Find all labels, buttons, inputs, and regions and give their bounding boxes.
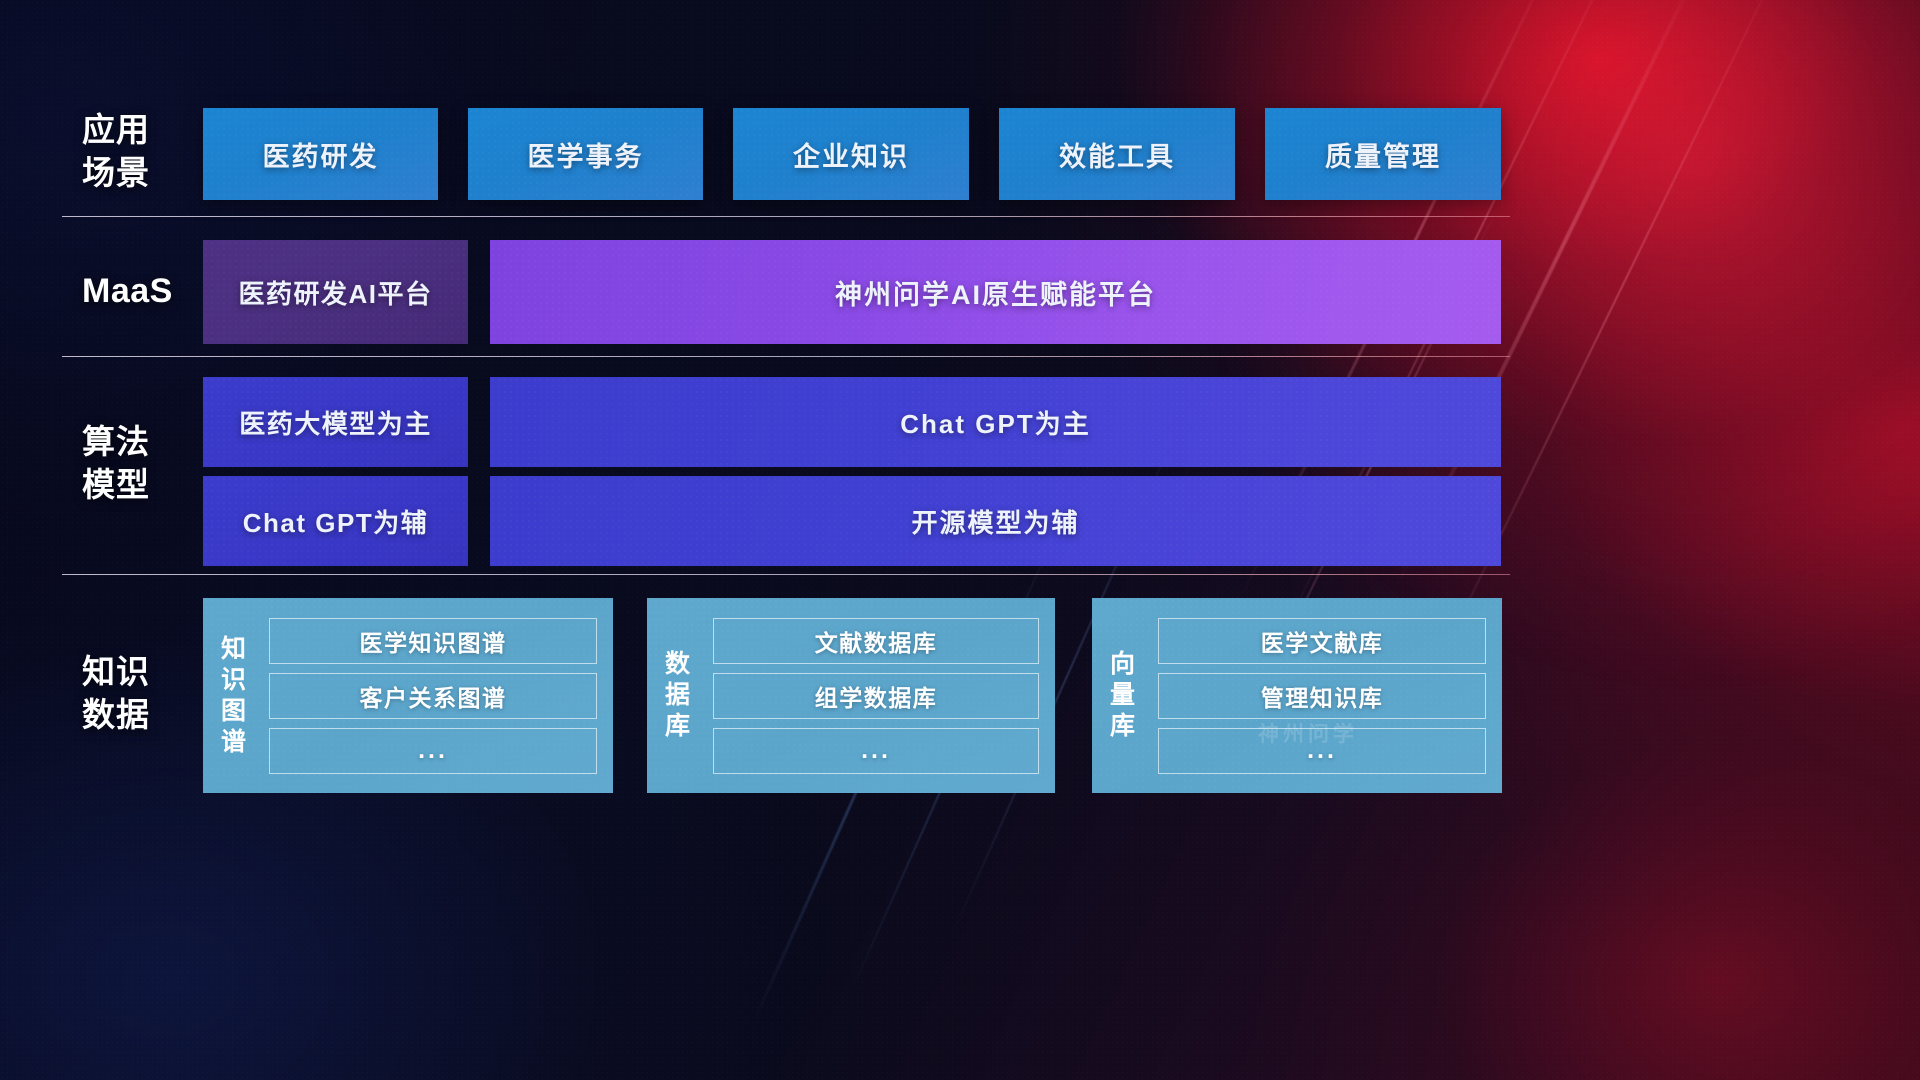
knowledge-item[interactable]: 管理知识库 <box>1158 673 1486 719</box>
scenario-label-2: 医学事务 <box>528 135 644 174</box>
knowledge-item-more[interactable]: ... <box>713 728 1039 774</box>
scenario-box-2[interactable]: 医学事务 <box>468 108 703 200</box>
row-label-knowledge: 知识 数据 <box>82 650 208 736</box>
maas-right-label: 神州问学AI原生赋能平台 <box>835 273 1156 312</box>
row-label-scenario: 应用 场景 <box>82 108 208 194</box>
knowledge-item-more[interactable]: ... <box>269 728 597 774</box>
algorithm-label-row1-right: Chat GPT为主 <box>900 404 1090 441</box>
row-label-algorithm: 算法 模型 <box>82 420 208 506</box>
scenario-label-3: 企业知识 <box>793 135 909 174</box>
knowledge-group-3-items: 医学文献库 管理知识库 ... <box>1154 598 1502 793</box>
scenario-box-1[interactable]: 医药研发 <box>203 108 438 200</box>
scenario-label-4: 效能工具 <box>1059 135 1175 174</box>
knowledge-item[interactable]: 组学数据库 <box>713 673 1039 719</box>
knowledge-group-1-label: 知 识 图 谱 <box>203 598 265 793</box>
knowledge-group-2-label: 数 据 库 <box>647 598 709 793</box>
knowledge-group-1-items: 医学知识图谱 客户关系图谱 ... <box>265 598 613 793</box>
algorithm-box-row2-right[interactable]: 开源模型为辅 <box>490 476 1501 566</box>
knowledge-item[interactable]: 医学知识图谱 <box>269 618 597 664</box>
knowledge-group-database[interactable]: 数 据 库 文献数据库 组学数据库 ... <box>647 598 1055 793</box>
algorithm-box-row1-right[interactable]: Chat GPT为主 <box>490 377 1501 467</box>
knowledge-item[interactable]: 医学文献库 <box>1158 618 1486 664</box>
divider-scenario-maas <box>62 216 1510 217</box>
scenario-label-1: 医药研发 <box>263 135 379 174</box>
knowledge-group-3-label: 向 量 库 <box>1092 598 1154 793</box>
algorithm-label-row1-left: 医药大模型为主 <box>239 404 432 441</box>
knowledge-group-2-items: 文献数据库 组学数据库 ... <box>709 598 1055 793</box>
scenario-box-5[interactable]: 质量管理 <box>1265 108 1501 200</box>
algorithm-box-row2-left[interactable]: Chat GPT为辅 <box>203 476 468 566</box>
knowledge-item[interactable]: 文献数据库 <box>713 618 1039 664</box>
row-label-maas: MaaS <box>82 270 208 313</box>
maas-left-label: 医药研发AI平台 <box>238 274 432 311</box>
maas-box-drug-ai-platform[interactable]: 医药研发AI平台 <box>203 240 468 344</box>
maas-box-shenzhou-platform[interactable]: 神州问学AI原生赋能平台 <box>490 240 1501 344</box>
knowledge-group-knowledge-graph[interactable]: 知 识 图 谱 医学知识图谱 客户关系图谱 ... <box>203 598 613 793</box>
algorithm-label-row2-left: Chat GPT为辅 <box>243 503 428 540</box>
knowledge-item-more[interactable]: ... <box>1158 728 1486 774</box>
algorithm-label-row2-right: 开源模型为辅 <box>911 503 1079 540</box>
scenario-label-5: 质量管理 <box>1325 135 1441 174</box>
knowledge-item[interactable]: 客户关系图谱 <box>269 673 597 719</box>
divider-maas-algorithm <box>62 356 1510 357</box>
divider-algorithm-knowledge <box>62 574 1510 575</box>
scenario-box-3[interactable]: 企业知识 <box>733 108 969 200</box>
scenario-box-4[interactable]: 效能工具 <box>999 108 1235 200</box>
algorithm-box-row1-left[interactable]: 医药大模型为主 <box>203 377 468 467</box>
knowledge-group-vector-store[interactable]: 向 量 库 医学文献库 管理知识库 ... <box>1092 598 1502 793</box>
